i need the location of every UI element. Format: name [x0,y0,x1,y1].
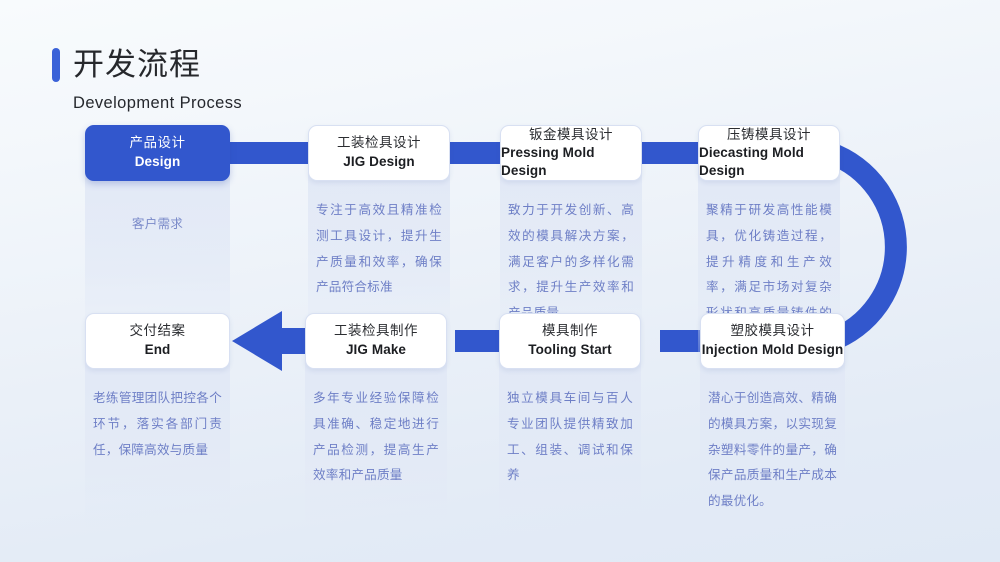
flow-node-jig-make[interactable]: 工装检具制作 JIG Make 多年专业经验保障检具准确、稳定地进行产品检测，提… [305,313,447,531]
card-description: 专注于高效且精准检测工具设计，提升生产质量和效率，确保产品符合标准 [316,197,442,300]
card-title-cn: 工装检具制作 [334,323,418,340]
card-header[interactable]: 工装检具设计 JIG Design [308,125,450,181]
card-title-cn: 交付结案 [130,323,186,340]
card-header[interactable]: 交付结案 End [85,313,230,369]
card-body: 老练管理团队把控各个环节，落实各部门责任，保障高效与质量 [85,359,230,531]
flow-node-design[interactable]: 产品设计 Design 客户需求 [85,125,230,343]
card-title-cn: 压铸模具设计 [727,127,811,144]
card-title-en: JIG Design [343,153,415,171]
card-title-en: Diecasting Mold Design [699,144,839,179]
card-header[interactable]: 钣金模具设计 Pressing Mold Design [500,125,642,181]
card-title-cn: 产品设计 [130,135,186,152]
flow-node-tooling-start[interactable]: 模具制作 Tooling Start 独立模具车间与百人专业团队提供精致加工、组… [499,313,641,531]
card-header[interactable]: 工装检具制作 JIG Make [305,313,447,369]
card-description: 致力于开发创新、高效的模具解决方案，满足客户的多样化需求，提升生产效率和产品质量… [508,197,634,326]
card-title-en: Injection Mold Design [702,341,844,359]
slide-canvas: 开发流程 Development Process 产品设计 Design 客户需… [0,0,1000,562]
card-title-en: JIG Make [346,341,406,359]
flow-node-jig-design[interactable]: 工装检具设计 JIG Design 专注于高效且精准检测工具设计，提升生产质量和… [308,125,450,343]
card-title-cn: 工装检具设计 [337,135,421,152]
card-header[interactable]: 压铸模具设计 Diecasting Mold Design [698,125,840,181]
card-description: 独立模具车间与百人专业团队提供精致加工、组装、调试和保养 [507,385,633,488]
flow-node-end[interactable]: 交付结案 End 老练管理团队把控各个环节，落实各部门责任，保障高效与质量 [85,313,230,531]
flow-node-pressing-mold-design[interactable]: 钣金模具设计 Pressing Mold Design 致力于开发创新、高效的模… [500,125,642,343]
card-description: 老练管理团队把控各个环节，落实各部门责任，保障高效与质量 [93,385,222,462]
card-title-en: Design [135,153,181,171]
card-title-cn: 钣金模具设计 [529,127,613,144]
card-body: 多年专业经验保障检具准确、稳定地进行产品检测，提高生产效率和产品质量 [305,359,447,531]
card-title-en: Tooling Start [528,341,612,359]
card-title-cn: 塑胶模具设计 [731,323,815,340]
card-title-cn: 模具制作 [542,323,598,340]
card-description: 多年专业经验保障检具准确、稳定地进行产品检测，提高生产效率和产品质量 [313,385,439,488]
card-body: 独立模具车间与百人专业团队提供精致加工、组装、调试和保养 [499,359,641,531]
card-header[interactable]: 模具制作 Tooling Start [499,313,641,369]
card-description: 潜心于创造高效、精确的模具方案，以实现复杂塑料零件的量产，确保产品质量和生产成本… [708,385,837,514]
card-description: 客户需求 [93,197,222,237]
card-title-en: End [145,341,171,359]
card-header[interactable]: 塑胶模具设计 Injection Mold Design [700,313,845,369]
card-title-en: Pressing Mold Design [501,144,641,179]
card-body: 潜心于创造高效、精确的模具方案，以实现复杂塑料零件的量产，确保产品质量和生产成本… [700,359,845,531]
flow-node-injection-mold-design[interactable]: 塑胶模具设计 Injection Mold Design 潜心于创造高效、精确的… [700,313,845,531]
card-header[interactable]: 产品设计 Design [85,125,230,181]
